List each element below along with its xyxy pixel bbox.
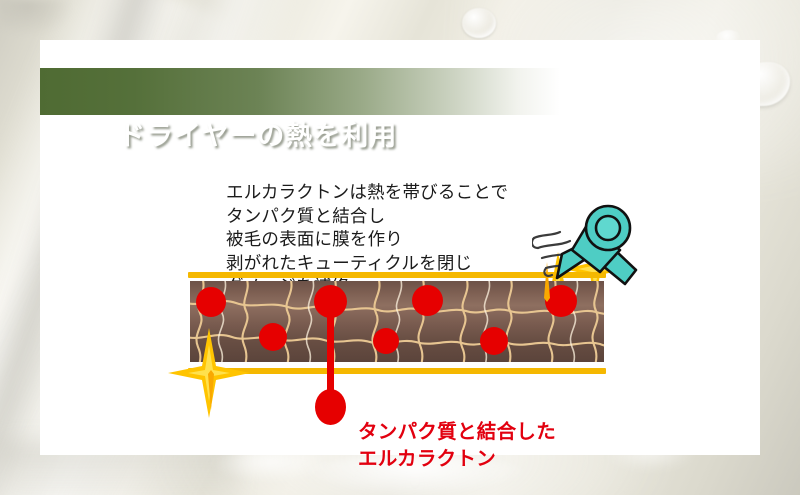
molecule-dot bbox=[259, 323, 287, 351]
molecule-legend-dot bbox=[315, 389, 346, 425]
water-droplet bbox=[462, 8, 496, 38]
hairdryer-body bbox=[557, 206, 636, 284]
membrane-line-bottom bbox=[188, 368, 606, 374]
caption-text: タンパク質と結合した エルカラクトン bbox=[358, 418, 556, 472]
body-paragraph: エルカラクトンは熱を帯びることで タンパク質と結合し 被毛の表面に膜を作り 剥が… bbox=[226, 182, 508, 300]
molecule-dot bbox=[373, 328, 399, 354]
molecule-dot bbox=[196, 287, 226, 317]
sparkle-icon bbox=[168, 328, 250, 418]
content-card: ドライヤーの熱を利用 エルカラクトンは熱を帯びることで タンパク質と結合し 被毛… bbox=[40, 40, 760, 455]
molecule-pointer-stem bbox=[327, 295, 334, 407]
page-title: ドライヤーの熱を利用 bbox=[118, 114, 397, 153]
hairdryer-icon bbox=[532, 198, 642, 290]
molecule-dot bbox=[480, 327, 508, 355]
sparkle-drip-icon bbox=[203, 370, 219, 410]
title-banner bbox=[40, 68, 560, 115]
